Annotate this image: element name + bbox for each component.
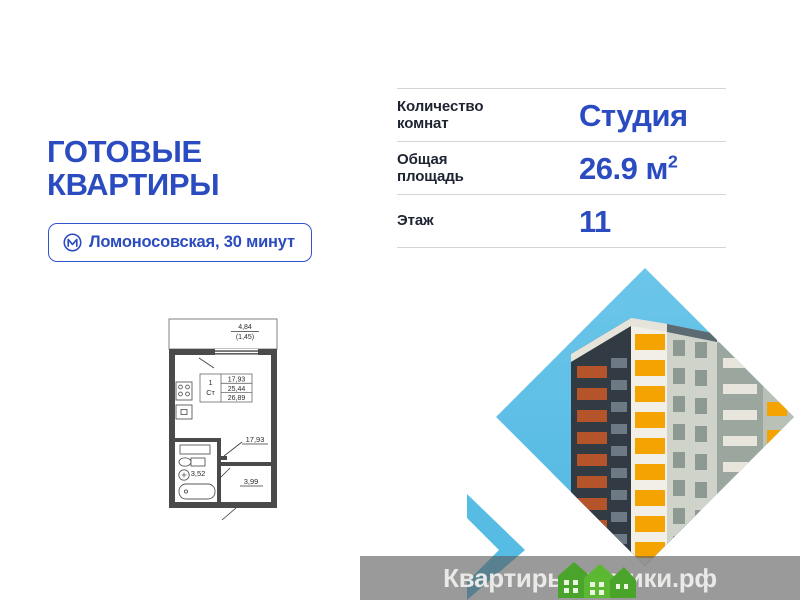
apartment-specs-table: Количество комнат Студия Общая площадь 2… [397, 88, 726, 248]
plan-area-total-without: 25,44 [228, 386, 246, 393]
spec-value-area-text: 26.9 м [579, 151, 668, 186]
plan-area-living: 17,93 [228, 377, 246, 384]
plan-room-type: Ст [206, 388, 215, 397]
plan-dim-bath: 3,52 [191, 469, 206, 478]
spec-value-floor-text: 11 [579, 204, 611, 239]
spec-label-rooms: Количество комнат [397, 98, 579, 132]
plan-dim-room: 17,93 [246, 435, 265, 444]
plan-balcony-coef: (1,45) [236, 334, 254, 341]
page-title: ГОТОВЫЕ КВАРТИРЫ [47, 136, 219, 202]
plan-area-total: 26,89 [228, 395, 246, 402]
watermark: Квартиры-домики.рф [360, 556, 800, 600]
metro-station-label: Ломоносовская, 30 минут [89, 233, 295, 252]
spec-value-rooms: Студия [579, 100, 688, 131]
spec-row-area: Общая площадь 26.9 м2 [397, 142, 726, 194]
green-house-icon [554, 558, 638, 598]
plan-dim-hall: 3,99 [244, 477, 259, 486]
spec-row-rooms: Количество комнат Студия [397, 89, 726, 141]
metro-m-icon [63, 233, 82, 252]
floor-plan[interactable]: 1 Ст 17,93 25,44 26,89 4,84 (1,45) 17,93… [158, 312, 298, 532]
spec-divider-bottom [397, 247, 726, 248]
spec-value-area: 26.9 м2 [579, 153, 677, 184]
spec-label-floor: Этаж [397, 212, 579, 229]
spec-value-rooms-text: Студия [579, 98, 688, 133]
plan-balcony-area: 4,84 [238, 324, 252, 331]
spec-value-area-unit: 2 [668, 151, 678, 171]
spec-value-floor: 11 [579, 206, 611, 237]
building-photo-art [455, 262, 800, 600]
spec-row-floor: Этаж 11 [397, 195, 726, 247]
spec-label-area: Общая площадь [397, 151, 579, 185]
metro-station-badge[interactable]: Ломоносовская, 30 минут [48, 223, 312, 262]
plan-room-count: 1 [209, 378, 213, 387]
